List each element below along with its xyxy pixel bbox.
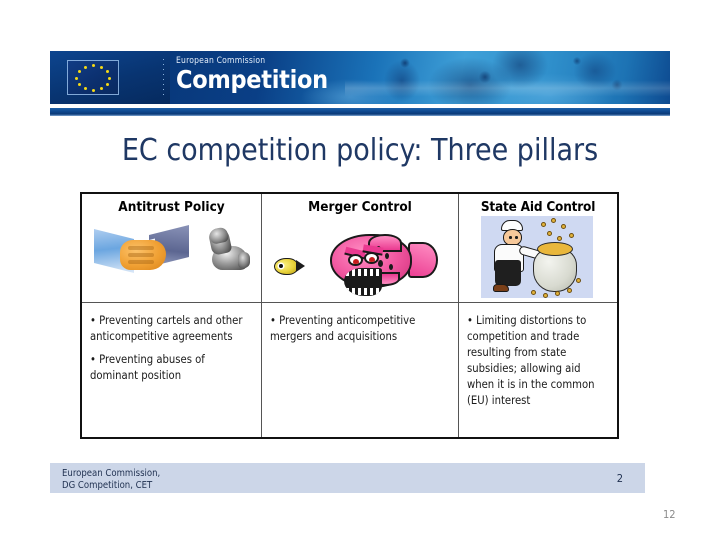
bullet-state-aid-1: • Limiting distortions to competition an… <box>467 313 607 409</box>
slide-number: 2 <box>617 472 623 485</box>
eu-flag-logo <box>67 60 119 95</box>
small-fish-icon <box>274 258 304 275</box>
footer-bar: European Commission, DG Competition, CET… <box>50 463 645 493</box>
banner-title-block: European Commission Competition <box>176 56 328 95</box>
cell-merger-text: • Preventing anticompetitive mergers and… <box>262 303 459 438</box>
cell-antitrust-header: Antitrust Policy <box>81 193 262 303</box>
table-text-row: • Preventing cartels and other anticompe… <box>81 303 618 438</box>
bullet-antitrust-2: • Preventing abuses of dominant position <box>90 352 251 384</box>
footer-line-1: European Commission, <box>62 468 160 480</box>
flexed-bicep-icon <box>206 226 250 282</box>
banner-title: Competition <box>176 65 328 95</box>
cell-antitrust-text: • Preventing cartels and other anticompe… <box>81 303 262 438</box>
bullet-merger-1: • Preventing anticompetitive mergers and… <box>270 313 448 345</box>
cell-merger-header: Merger Control <box>262 193 459 303</box>
page-title: EC competition policy: Three pillars <box>60 133 660 168</box>
banner-dot-divider <box>162 58 165 97</box>
column-header-antitrust: Antitrust Policy <box>82 194 261 215</box>
banner-bottom-bar <box>50 108 670 116</box>
chef-with-money-bag-icon <box>459 218 617 296</box>
big-fish-icon <box>316 224 436 294</box>
fish-eating-fish-icon <box>262 218 458 296</box>
slide-canvas: European Commission Competition EC compe… <box>0 0 720 540</box>
column-header-merger: Merger Control <box>262 194 458 215</box>
bullet-antitrust-1: • Preventing cartels and other anticompe… <box>90 313 251 345</box>
footer-line-2: DG Competition, CET <box>62 480 160 492</box>
cell-state-aid-header: State Aid Control <box>459 193 619 303</box>
three-pillars-table: Antitrust Policy <box>80 192 619 439</box>
table-header-and-art-row: Antitrust Policy <box>81 193 618 303</box>
page-number: 12 <box>663 508 676 521</box>
handshake-and-bicep-icon <box>82 218 261 296</box>
footer-organisation: European Commission, DG Competition, CET <box>62 468 160 492</box>
column-header-state-aid: State Aid Control <box>459 194 617 215</box>
handshake-icon <box>94 228 189 280</box>
cell-state-aid-text: • Limiting distortions to competition an… <box>459 303 619 438</box>
commission-banner: European Commission Competition <box>50 51 670 104</box>
